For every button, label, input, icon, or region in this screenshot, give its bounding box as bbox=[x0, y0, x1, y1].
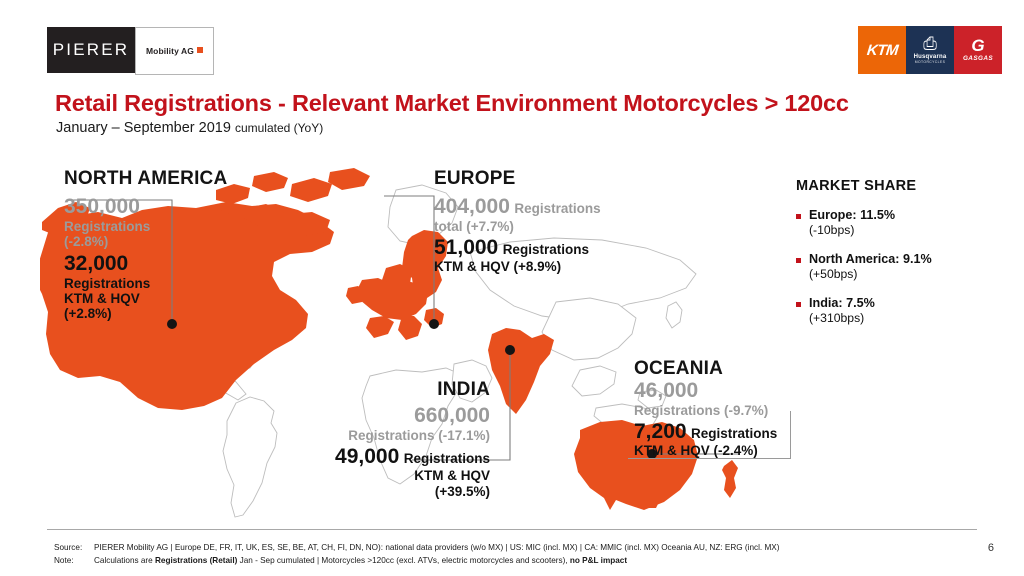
callout-north-america-total-label: Registrations bbox=[64, 219, 264, 234]
callout-india-ktm-delta: (+39.5%) bbox=[298, 484, 490, 499]
callout-europe-ktm-label: Registrations bbox=[503, 242, 589, 257]
callout-india-ktm-brands: KTM & HQV bbox=[298, 468, 490, 483]
mobility-ag-label: Mobility AG bbox=[146, 46, 203, 56]
gasgas-mark-icon: G bbox=[971, 38, 984, 53]
page-number: 6 bbox=[988, 542, 994, 554]
callout-india-total-label: Registrations (-17.1%) bbox=[298, 428, 490, 443]
subtitle-qualifier: cumulated (YoY) bbox=[235, 121, 323, 135]
subtitle-period: January – September 2019 bbox=[56, 120, 231, 136]
footer-source-text: PIERER Mobility AG | Europe DE, FR, IT, … bbox=[94, 542, 779, 555]
callout-europe-total-label: Registrations bbox=[514, 201, 600, 216]
callout-india-total-value: 660,000 bbox=[298, 404, 490, 428]
callout-oceania-ktm-label: Registrations bbox=[691, 426, 777, 441]
callout-europe-heading: EUROPE bbox=[434, 168, 634, 189]
callout-north-america-ktm-value: 32,000 bbox=[64, 252, 264, 276]
gasgas-logo-text: GASGAS bbox=[963, 55, 993, 62]
pierer-logo: PIERER bbox=[47, 27, 135, 73]
callout-europe-ktm-brands: KTM & HQV (+8.9%) bbox=[434, 259, 634, 274]
gasgas-logo-tile: G GASGAS bbox=[954, 26, 1002, 74]
orange-square-icon bbox=[197, 47, 203, 53]
husqvarna-logo-subtext: MOTORCYCLES bbox=[915, 60, 946, 64]
callout-oceania-ktm-row: 7,200 Registrations bbox=[634, 420, 796, 444]
callout-oceania-total-label: Registrations (-9.7%) bbox=[634, 403, 796, 418]
mobility-ag-logo: Mobility AG bbox=[135, 27, 214, 75]
brand-logo-bar: KTM ⎙ Husqvarna MOTORCYCLES G GASGAS bbox=[858, 26, 1002, 74]
market-share-europe-delta: (-10bps) bbox=[809, 223, 895, 237]
market-share-item-europe: Europe: 11.5% (-10bps) bbox=[796, 208, 1011, 237]
page-title: Retail Registrations - Relevant Market E… bbox=[55, 90, 849, 117]
footer-divider bbox=[47, 529, 977, 530]
husqvarna-logo-tile: ⎙ Husqvarna MOTORCYCLES bbox=[906, 26, 954, 74]
footer: Source: PIERER Mobility AG | Europe DE, … bbox=[54, 542, 779, 567]
region-new-zealand bbox=[722, 460, 738, 498]
callout-europe-ktm-row: 51,000 Registrations bbox=[434, 236, 634, 260]
market-share-panel: MARKET SHARE Europe: 11.5% (-10bps) Nort… bbox=[796, 178, 1011, 340]
dot-europe bbox=[429, 319, 439, 329]
ktm-logo-tile: KTM bbox=[858, 26, 906, 74]
region-india bbox=[488, 328, 554, 414]
callout-north-america-ktm-brands: KTM & HQV bbox=[64, 291, 264, 306]
page-subtitle: January – September 2019 cumulated (YoY) bbox=[56, 120, 323, 136]
callout-north-america-total-value: 350,000 bbox=[64, 195, 264, 219]
callout-europe: EUROPE 404,000 Registrations total (+7.7… bbox=[434, 168, 634, 275]
footer-source-label: Source: bbox=[54, 542, 94, 555]
callout-oceania-heading: OCEANIA bbox=[634, 358, 796, 379]
ktm-logo-text: KTM bbox=[866, 42, 899, 59]
market-share-india-line: India: 7.5% bbox=[809, 296, 875, 310]
callout-india-ktm-row: 49,000 Registrations bbox=[298, 445, 490, 469]
market-share-europe-line: Europe: 11.5% bbox=[809, 208, 895, 222]
callout-oceania-ktm-brands: KTM & HQV (-2.4%) bbox=[634, 443, 796, 458]
callout-north-america-total-delta: (-2.8%) bbox=[64, 234, 264, 249]
pierer-logo-text: PIERER bbox=[53, 40, 130, 60]
footer-source-row: Source: PIERER Mobility AG | Europe DE, … bbox=[54, 542, 779, 555]
bullet-square-icon bbox=[796, 302, 801, 307]
callout-india-ktm-label: Registrations bbox=[404, 451, 490, 466]
market-share-item-north-america: North America: 9.1% (+50bps) bbox=[796, 252, 1011, 281]
market-share-item-india: India: 7.5% (+310bps) bbox=[796, 296, 1011, 325]
market-share-north-america-delta: (+50bps) bbox=[809, 267, 932, 281]
footer-note-row: Note: Calculations are Registrations (Re… bbox=[54, 555, 779, 568]
footer-note-label: Note: bbox=[54, 555, 94, 568]
footer-note-text: Calculations are Registrations (Retail) … bbox=[94, 555, 627, 568]
callout-oceania-ktm-value: 7,200 bbox=[634, 420, 687, 443]
callout-india-heading: INDIA bbox=[298, 379, 490, 400]
callout-europe-total-delta: total (+7.7%) bbox=[434, 219, 634, 234]
dot-india bbox=[505, 345, 515, 355]
callout-north-america-ktm-delta: (+2.8%) bbox=[64, 306, 264, 321]
callout-oceania-total-value: 46,000 bbox=[634, 379, 796, 403]
bullet-square-icon bbox=[796, 214, 801, 219]
callout-europe-ktm-value: 51,000 bbox=[434, 236, 498, 259]
market-share-title: MARKET SHARE bbox=[796, 178, 1011, 194]
callout-oceania: OCEANIA 46,000 Registrations (-9.7%) 7,2… bbox=[634, 358, 796, 459]
callout-north-america: NORTH AMERICA 350,000 Registrations (-2.… bbox=[64, 168, 264, 321]
callout-india: INDIA 660,000 Registrations (-17.1%) 49,… bbox=[298, 379, 490, 499]
husqvarna-shield-icon: ⎙ bbox=[923, 36, 937, 52]
callout-europe-total-value: 404,000 bbox=[434, 195, 510, 218]
callout-india-ktm-value: 49,000 bbox=[335, 445, 399, 468]
bullet-square-icon bbox=[796, 258, 801, 263]
callout-north-america-heading: NORTH AMERICA bbox=[64, 168, 264, 189]
callout-north-america-ktm-label: Registrations bbox=[64, 276, 264, 291]
callout-europe-total-row: 404,000 Registrations bbox=[434, 195, 634, 219]
market-share-north-america-line: North America: 9.1% bbox=[809, 252, 932, 266]
market-share-india-delta: (+310bps) bbox=[809, 311, 875, 325]
